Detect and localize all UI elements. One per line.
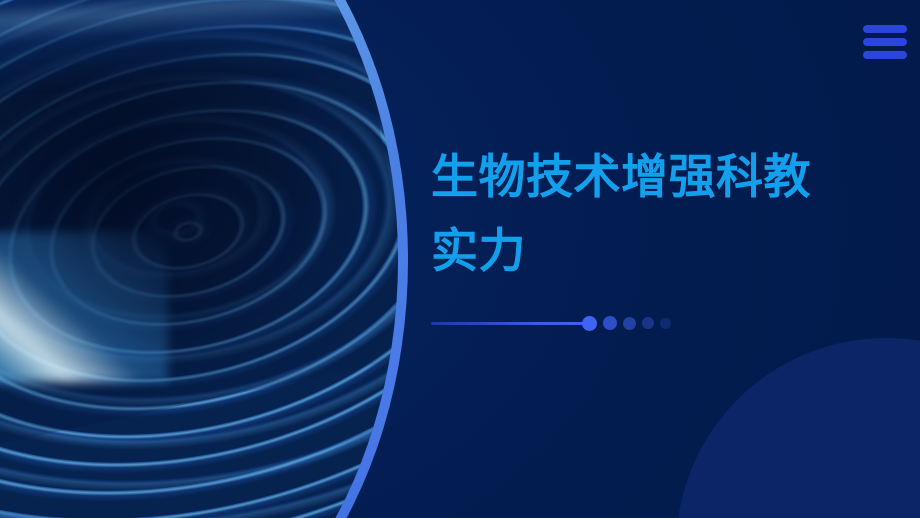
decoration-dot-2 [603, 316, 617, 330]
hamburger-bar-2 [863, 38, 907, 46]
slide-title: 生物技术增强科教 实力 [431, 140, 861, 289]
hamburger-menu-icon[interactable] [863, 25, 907, 59]
hamburger-bar-3 [863, 51, 907, 59]
decoration-line [431, 322, 583, 325]
title-slide: 生物技术增强科教 实力 [0, 0, 920, 518]
decoration-dot-5 [660, 318, 671, 329]
decoration-dot-4 [642, 317, 654, 329]
slide-title-line-1: 生物技术增强科教 [431, 140, 861, 214]
title-decoration [431, 314, 671, 332]
hamburger-bar-1 [863, 25, 907, 33]
decoration-dot-3 [623, 317, 636, 330]
decoration-dot-1 [582, 316, 597, 331]
slide-title-line-2: 实力 [431, 214, 861, 288]
abstract-blue-vortex-graphic [0, 0, 398, 518]
decoration-dots [583, 316, 671, 331]
vortex-glow-streak [0, 232, 168, 382]
